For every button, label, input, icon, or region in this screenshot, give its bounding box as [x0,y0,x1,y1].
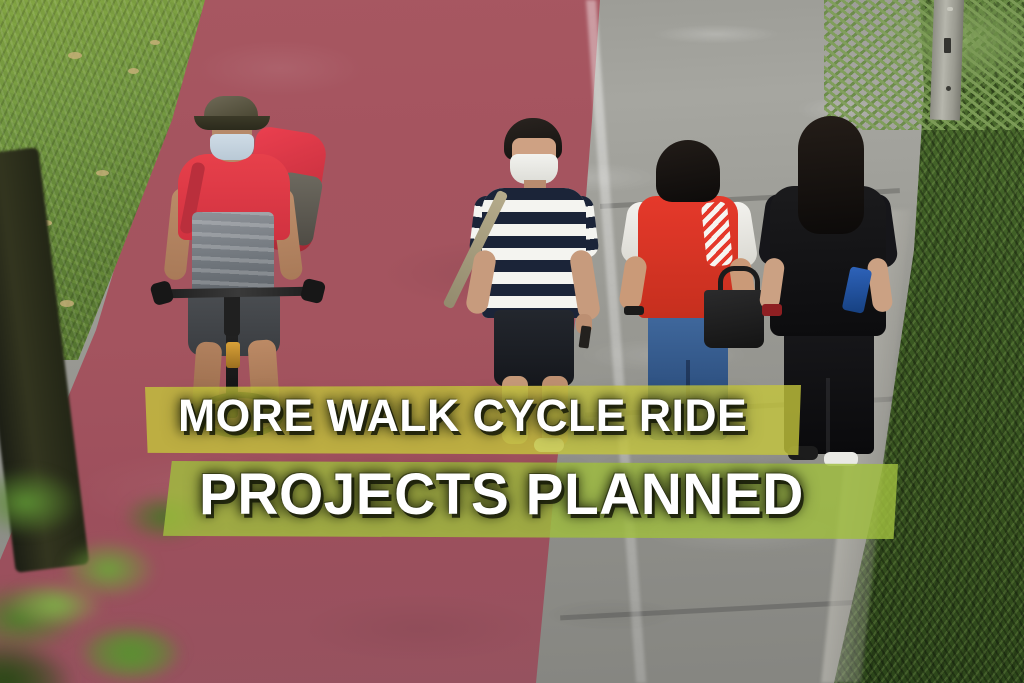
headline-line-2: PROJECTS PLANNED [199,466,804,524]
bicycle-handlebar [156,287,320,299]
woman-black-trousers-seam [826,378,830,454]
utility-pole-bolt [946,86,951,91]
leaf-litter [96,170,109,176]
wristband-icon [762,304,782,316]
woman-black-hair [798,116,864,234]
bicycle-stem [224,292,240,336]
leaf-litter [150,40,160,45]
utility-pole-slot [944,38,951,53]
headline-line-1: MORE WALK CYCLE RIDE [178,393,747,438]
face-mask-icon [210,134,254,160]
phone-icon [579,325,592,348]
person-cyclist [150,92,340,422]
bicycle-grip-left [149,280,174,307]
handbag-icon [704,290,764,348]
leaf-litter [60,300,74,307]
foliage-bottom-left-near [0,560,230,683]
man-shorts [494,310,574,386]
utility-pole [930,0,964,120]
leaf-litter [68,52,82,59]
wristwatch-icon [624,306,644,315]
cyclist-cap-brim [194,116,270,130]
bicycle-bottle [226,342,240,368]
news-photo-graphic: MORE WALK CYCLE RIDE PROJECTS PLANNED [0,0,1024,683]
person-man-striped-shirt [468,118,598,418]
utility-pole-cap [947,7,953,11]
shrub-top-right [824,0,1024,130]
woman-red-hair [656,140,720,202]
bicycle-grip-right [300,278,327,305]
photograph [0,0,1024,683]
leaf-litter [128,68,139,74]
